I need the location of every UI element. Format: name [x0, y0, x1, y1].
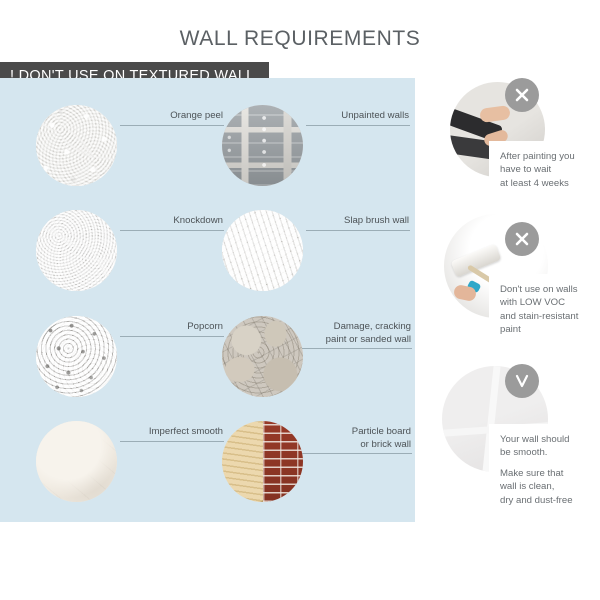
wall-requirements-infographic: WALL REQUIREMENTS ! DON'T USE ON TEXTURE… [0, 0, 600, 600]
label-underline [302, 348, 412, 349]
damaged-wall-texture-swatch [222, 316, 303, 397]
texture-label: Knockdown [120, 215, 224, 228]
side-panel-low-voc: Don't use on walls with LOW VOC and stai… [440, 212, 600, 342]
texture-label: Unpainted walls [306, 110, 410, 123]
orange-peel-texture-swatch [36, 105, 117, 186]
texture-item-slap-brush-wall: Slap brush wall [222, 210, 412, 314]
texture-item-orange-peel: Orange peel [36, 105, 226, 209]
texture-item-knockdown: Knockdown [36, 210, 226, 314]
callout-wait-4-weeks: After painting you have to wait at least… [489, 141, 600, 200]
label-underline [120, 441, 224, 442]
label-underline [302, 453, 412, 454]
texture-item-popcorn: Popcorn [36, 316, 226, 420]
texture-item-imperfect-smooth: Imperfect smooth [36, 421, 226, 525]
slap-brush-wall-texture-swatch [222, 210, 303, 291]
texture-label: Imperfect smooth [120, 426, 224, 439]
texture-label: Orange peel [120, 110, 224, 123]
texture-grid: Orange peel Unpainted walls Knockdown [0, 78, 415, 522]
texture-label-group: Popcorn [120, 321, 224, 337]
texture-label-group: Knockdown [120, 215, 224, 231]
texture-label-group: Particle board or brick wall [302, 426, 412, 454]
texture-item-particle-board-brick: Particle board or brick wall [222, 421, 412, 525]
callout-smooth-wall: Your wall should be smooth. Make sure th… [489, 424, 600, 517]
texture-label-group: Slap brush wall [306, 215, 410, 231]
page-title: WALL REQUIREMENTS [0, 27, 600, 51]
callout-low-voc: Don't use on walls with LOW VOC and stai… [489, 274, 600, 347]
side-panel-smooth-wall: Your wall should be smooth. Make sure th… [440, 364, 600, 514]
texture-label: Damage, cracking paint or sanded wall [302, 321, 412, 346]
label-underline [306, 230, 410, 231]
label-underline [120, 336, 224, 337]
side-panel-wait-4-weeks: After painting you have to wait at least… [440, 78, 600, 198]
texture-label-group: Unpainted walls [306, 110, 410, 126]
texture-label-group: Damage, cracking paint or sanded wall [302, 321, 412, 349]
label-underline [120, 230, 224, 231]
knockdown-texture-swatch [36, 210, 117, 291]
callout-line: After painting you have to wait at least… [500, 150, 598, 190]
cross-icon [505, 78, 539, 112]
check-icon [505, 364, 539, 398]
label-underline [120, 125, 224, 126]
texture-item-damaged-wall: Damage, cracking paint or sanded wall [222, 316, 412, 420]
label-underline [306, 125, 410, 126]
texture-item-unpainted-walls: Unpainted walls [222, 105, 412, 209]
texture-label-group: Orange peel [120, 110, 224, 126]
texture-label-group: Imperfect smooth [120, 426, 224, 442]
particle-board-brick-texture-swatch [222, 421, 303, 502]
callout-line: Make sure that wall is clean, dry and du… [500, 467, 600, 507]
popcorn-texture-swatch [36, 316, 117, 397]
texture-label: Slap brush wall [306, 215, 410, 228]
texture-label: Popcorn [120, 321, 224, 334]
texture-label: Particle board or brick wall [302, 426, 412, 451]
cross-icon [505, 222, 539, 256]
callout-line: Don't use on walls with LOW VOC and stai… [500, 283, 600, 337]
callout-line: Your wall should be smooth. [500, 433, 600, 460]
unpainted-walls-texture-swatch [222, 105, 303, 186]
imperfect-smooth-texture-swatch [36, 421, 117, 502]
